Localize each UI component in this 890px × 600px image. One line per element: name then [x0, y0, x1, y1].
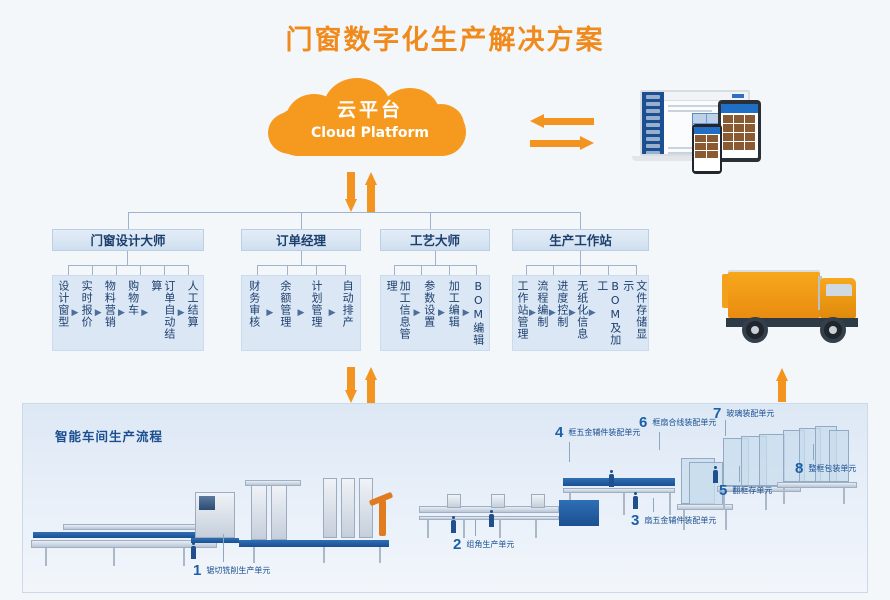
module-item[interactable]: 文件存储显示	[622, 280, 648, 346]
module-title: 订单经理	[241, 229, 361, 251]
devices-mockup	[630, 88, 785, 178]
workshop-unit-number: 3	[631, 512, 639, 529]
chevron-right-icon: ▶	[72, 308, 79, 318]
workshop-unit-number: 5	[719, 482, 727, 499]
module-item[interactable]: 进度控制	[556, 280, 569, 346]
chevron-right-icon: ▶	[549, 308, 556, 318]
workshop-unit-text: 翻框存单元	[732, 485, 772, 496]
chevron-right-icon: ▶	[529, 308, 536, 318]
module-item[interactable]: BOM编辑	[472, 280, 485, 346]
workshop-unit-number: 4	[555, 424, 563, 441]
module-item[interactable]: 实时报价	[80, 280, 93, 346]
arrow-up-icon	[776, 368, 788, 402]
workshop-unit-label[interactable]: 2 组角生产单元	[453, 536, 514, 553]
module-items: 财务审核 ▶ 余额管理 ▶ 计划管理 ▶ 自动排产	[241, 275, 361, 351]
workshop-unit-number: 2	[453, 536, 461, 553]
workshop-unit-number: 8	[795, 460, 803, 477]
page-title: 门窗数字化生产解决方案	[0, 18, 890, 57]
module-group-design-master[interactable]: 门窗设计大师 设计窗型 ▶ 实时报价 ▶ 物料营销 ▶ 购物车 ▶ 订单自动结算…	[52, 229, 204, 351]
chevron-right-icon: ▶	[329, 308, 336, 318]
module-item[interactable]: 计划管理	[310, 280, 323, 346]
module-item[interactable]: 工作站管理	[516, 280, 529, 346]
module-item[interactable]: 无纸化信息	[576, 280, 589, 346]
module-group-order-manager[interactable]: 订单经理 财务审核 ▶ 余额管理 ▶ 计划管理 ▶ 自动排产	[241, 229, 361, 351]
smart-workshop-panel: 智能车间生产流程	[22, 403, 868, 593]
module-group-production-workstation[interactable]: 生产工作站 工作站管理 ▶ 流程编制 ▶ 进度控制 ▶ 无纸化信息 ▶ BOM及…	[512, 229, 649, 351]
workshop-unit-text: 整框包装单元	[808, 463, 856, 474]
chevron-right-icon: ▶	[95, 308, 102, 318]
module-item[interactable]: 流程编制	[536, 280, 549, 346]
delivery-truck-illustration	[712, 262, 874, 360]
workshop-unit-text: 组角生产单元	[466, 539, 514, 550]
arrow-right-icon	[530, 136, 594, 150]
module-group-process-master[interactable]: 工艺大师 加工信息管理 ▶ 参数设置 ▶ 加工编辑 ▶ BOM编辑	[380, 229, 490, 351]
workshop-unit-label[interactable]: 5 翻框存单元	[719, 482, 772, 499]
chevron-right-icon: ▶	[266, 308, 273, 318]
chevron-right-icon: ▶	[118, 308, 125, 318]
module-item[interactable]: 物料营销	[103, 280, 116, 346]
module-item[interactable]: 人工结算	[186, 280, 199, 346]
workshop-unit-label[interactable]: 6 框扇合线装配单元	[639, 414, 716, 431]
module-item[interactable]: 加工信息管理	[385, 280, 411, 346]
module-title: 门窗设计大师	[52, 229, 204, 251]
module-items: 加工信息管理 ▶ 参数设置 ▶ 加工编辑 ▶ BOM编辑	[380, 275, 490, 351]
module-item[interactable]: 设计窗型	[57, 280, 70, 346]
workshop-unit-label[interactable]: 4 框五金辅件装配单元	[555, 424, 640, 441]
module-item[interactable]: 余额管理	[279, 280, 292, 346]
module-item[interactable]: 购物车	[127, 280, 140, 346]
chevron-right-icon: ▶	[141, 308, 148, 318]
workshop-unit-number: 6	[639, 414, 647, 431]
workshop-unit-text: 玻璃装配单元	[726, 408, 774, 419]
workshop-unit-text: 扇五金辅件装配单元	[644, 515, 716, 526]
chevron-right-icon: ▶	[589, 308, 596, 318]
module-item[interactable]: 加工编辑	[447, 280, 460, 346]
workshop-unit-label[interactable]: 1 锯切铣削生产单元	[193, 562, 270, 579]
module-item[interactable]: 参数设置	[423, 280, 436, 346]
cloud-label-en: Cloud Platform	[268, 123, 472, 143]
arrow-left-icon	[530, 114, 594, 128]
workshop-unit-text: 框五金辅件装配单元	[568, 427, 640, 438]
tablet-icon	[718, 100, 761, 162]
chevron-right-icon: ▶	[413, 308, 420, 318]
arrow-down-icon	[345, 367, 357, 403]
arrow-up-icon	[365, 367, 377, 403]
module-title: 工艺大师	[380, 229, 490, 251]
module-item[interactable]: 订单自动结算	[150, 280, 176, 346]
workshop-unit-text: 锯切铣削生产单元	[206, 565, 270, 576]
workshop-unit-number: 1	[193, 562, 201, 579]
laptop-sidebar	[642, 92, 664, 154]
workshop-title: 智能车间生产流程	[55, 426, 163, 445]
robot-arm-icon	[379, 500, 386, 536]
module-items: 设计窗型 ▶ 实时报价 ▶ 物料营销 ▶ 购物车 ▶ 订单自动结算 ▶ 人工结算	[52, 275, 204, 351]
chevron-right-icon: ▶	[569, 308, 576, 318]
cloud-label-group: 云平台 Cloud Platform	[268, 98, 472, 143]
workshop-unit-label[interactable]: 7 玻璃装配单元	[713, 405, 774, 422]
workshop-unit-text: 框扇合线装配单元	[652, 417, 716, 428]
phone-icon	[692, 124, 722, 174]
workshop-unit-label[interactable]: 3 扇五金辅件装配单元	[631, 512, 716, 529]
workshop-unit-number: 7	[713, 405, 721, 422]
module-item[interactable]: BOM及加工	[596, 280, 622, 346]
cloud-platform-node[interactable]: 云平台 Cloud Platform	[268, 78, 472, 162]
chevron-right-icon: ▶	[438, 308, 445, 318]
module-title: 生产工作站	[512, 229, 649, 251]
chevron-right-icon: ▶	[298, 308, 305, 318]
module-items: 工作站管理 ▶ 流程编制 ▶ 进度控制 ▶ 无纸化信息 ▶ BOM及加工 文件存…	[512, 275, 649, 351]
module-item[interactable]: 财务审核	[248, 280, 261, 346]
chevron-right-icon: ▶	[178, 308, 185, 318]
cloud-label-cn: 云平台	[268, 98, 472, 123]
chevron-right-icon: ▶	[463, 308, 470, 318]
module-item[interactable]: 自动排产	[341, 280, 354, 346]
workshop-unit-label[interactable]: 8 整框包装单元	[795, 460, 856, 477]
